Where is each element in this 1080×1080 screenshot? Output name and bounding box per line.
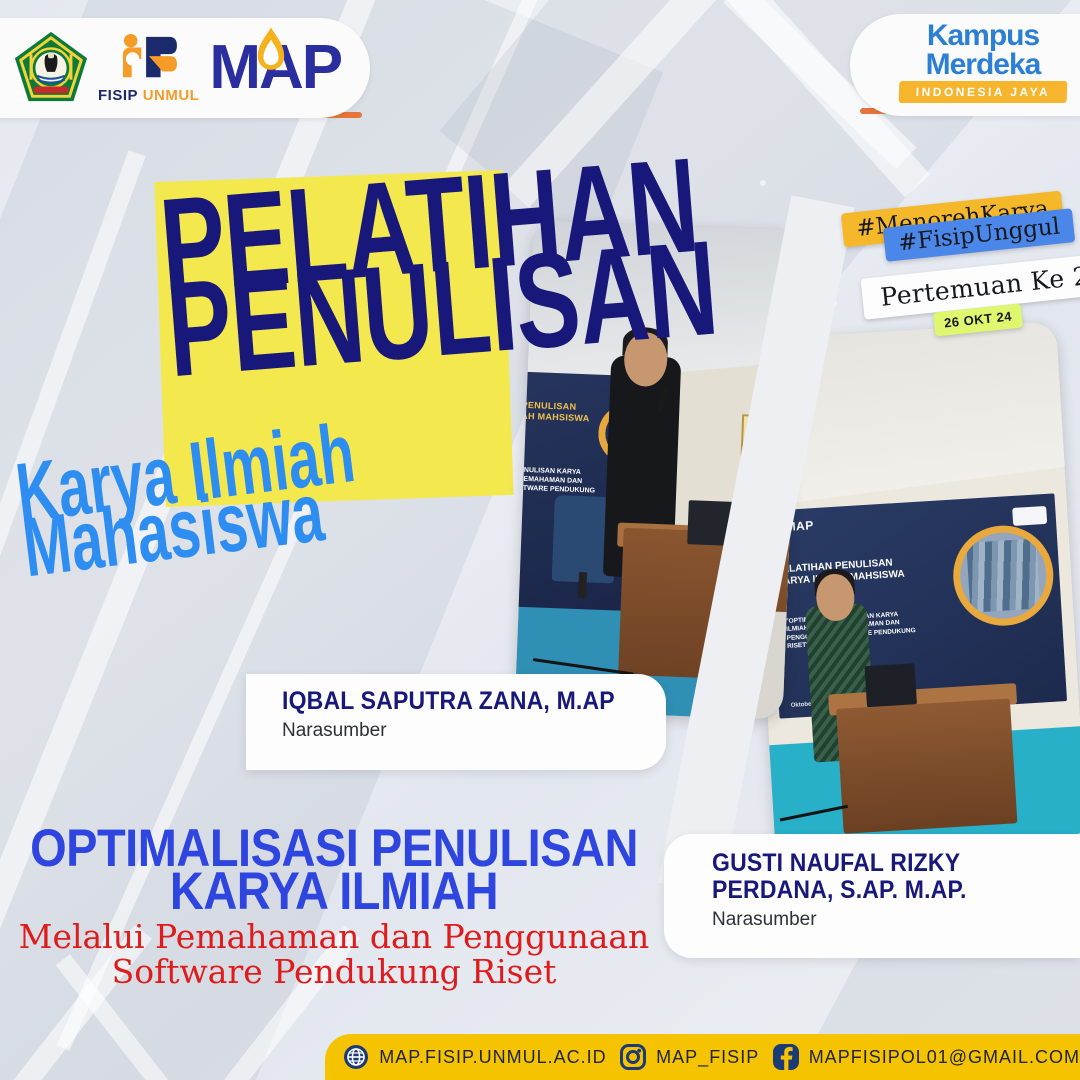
headline-line-3: Melalui Pemahaman dan Penggunaan <box>0 920 668 955</box>
speaker-1-role: Narasumber <box>282 720 666 742</box>
speaker-2-role: Narasumber <box>712 909 1080 931</box>
facebook-icon <box>773 1044 799 1070</box>
universitas-mulawarman-logo-icon <box>12 28 90 108</box>
headline-line-2: KARYA ILMIAH <box>0 867 668 915</box>
speaker-card-1: IQBAL SAPUTRA ZANA, M.AP Narasumber <box>246 674 666 770</box>
headline-line-4: Software Pendukung Riset <box>0 955 668 990</box>
flame-icon <box>255 26 287 81</box>
globe-icon <box>343 1044 369 1070</box>
speaker-2-name: GUSTI NAUFAL RIZKY PERDANA, S.AP. M.AP. <box>712 850 1016 904</box>
fisip-unmul-logo: FISIP UNMUL <box>98 33 199 104</box>
fisip-mark-icon <box>119 33 179 85</box>
fisip-unmul-label: FISIP UNMUL <box>98 87 199 104</box>
poster-canvas: FISIP UNMUL MAP Kampus Merdeka INDONESIA… <box>0 0 1080 1080</box>
kampus-merdeka-line1: Kampus <box>878 22 1080 51</box>
map-logo: MAP <box>209 42 341 95</box>
footer-instagram-label: MAP_FISIP <box>656 1047 759 1068</box>
footer-website-label: MAP.FISIP.UNMUL.AC.ID <box>379 1047 606 1068</box>
title-line-2: PENULISAN <box>164 252 503 385</box>
poster-title: PELATIHAN PENULISAN <box>157 166 529 362</box>
unmul-text: UNMUL <box>143 87 200 104</box>
footer-website[interactable]: MAP.FISIP.UNMUL.AC.ID <box>343 1044 606 1070</box>
photo-center-banner-title: PENULISANAH MAHSISWA <box>521 400 590 425</box>
footer-facebook[interactable]: MAPFISIPOL01@GMAIL.COM <box>773 1044 1080 1070</box>
date-label: 26 OKT 24 <box>943 308 1012 330</box>
footer-facebook-label: MAPFISIPOL01@GMAIL.COM <box>809 1047 1080 1068</box>
speaker-card-2: GUSTI NAUFAL RIZKY PERDANA, S.AP. M.AP. … <box>664 834 1080 958</box>
header-logo-bar: FISIP UNMUL MAP <box>0 18 370 118</box>
footer-instagram[interactable]: MAP_FISIP <box>620 1044 759 1070</box>
kampus-merdeka-logo: Kampus Merdeka INDONESIA JAYA <box>850 14 1080 116</box>
kampus-merdeka-ribbon: INDONESIA JAYA <box>899 81 1068 103</box>
instagram-icon <box>620 1044 646 1070</box>
speaker-1-name: IQBAL SAPUTRA ZANA, M.AP <box>282 688 635 715</box>
fisip-text: FISIP <box>98 87 138 104</box>
kampus-merdeka-line2: Merdeka <box>878 51 1080 80</box>
photo-center-banner-sub: ENULISAN KARYAPEMAHAMAN DANFTWARE PENDUK… <box>518 466 596 496</box>
event-headline: OPTIMALISASI PENULISAN KARYA ILMIAH Mela… <box>0 826 668 990</box>
kampus-merdeka-ribbon-label: INDONESIA JAYA <box>916 85 1051 99</box>
footer-contact-bar: MAP.FISIP.UNMUL.AC.ID MAP_FISIP MAPFISI <box>325 1034 1080 1080</box>
